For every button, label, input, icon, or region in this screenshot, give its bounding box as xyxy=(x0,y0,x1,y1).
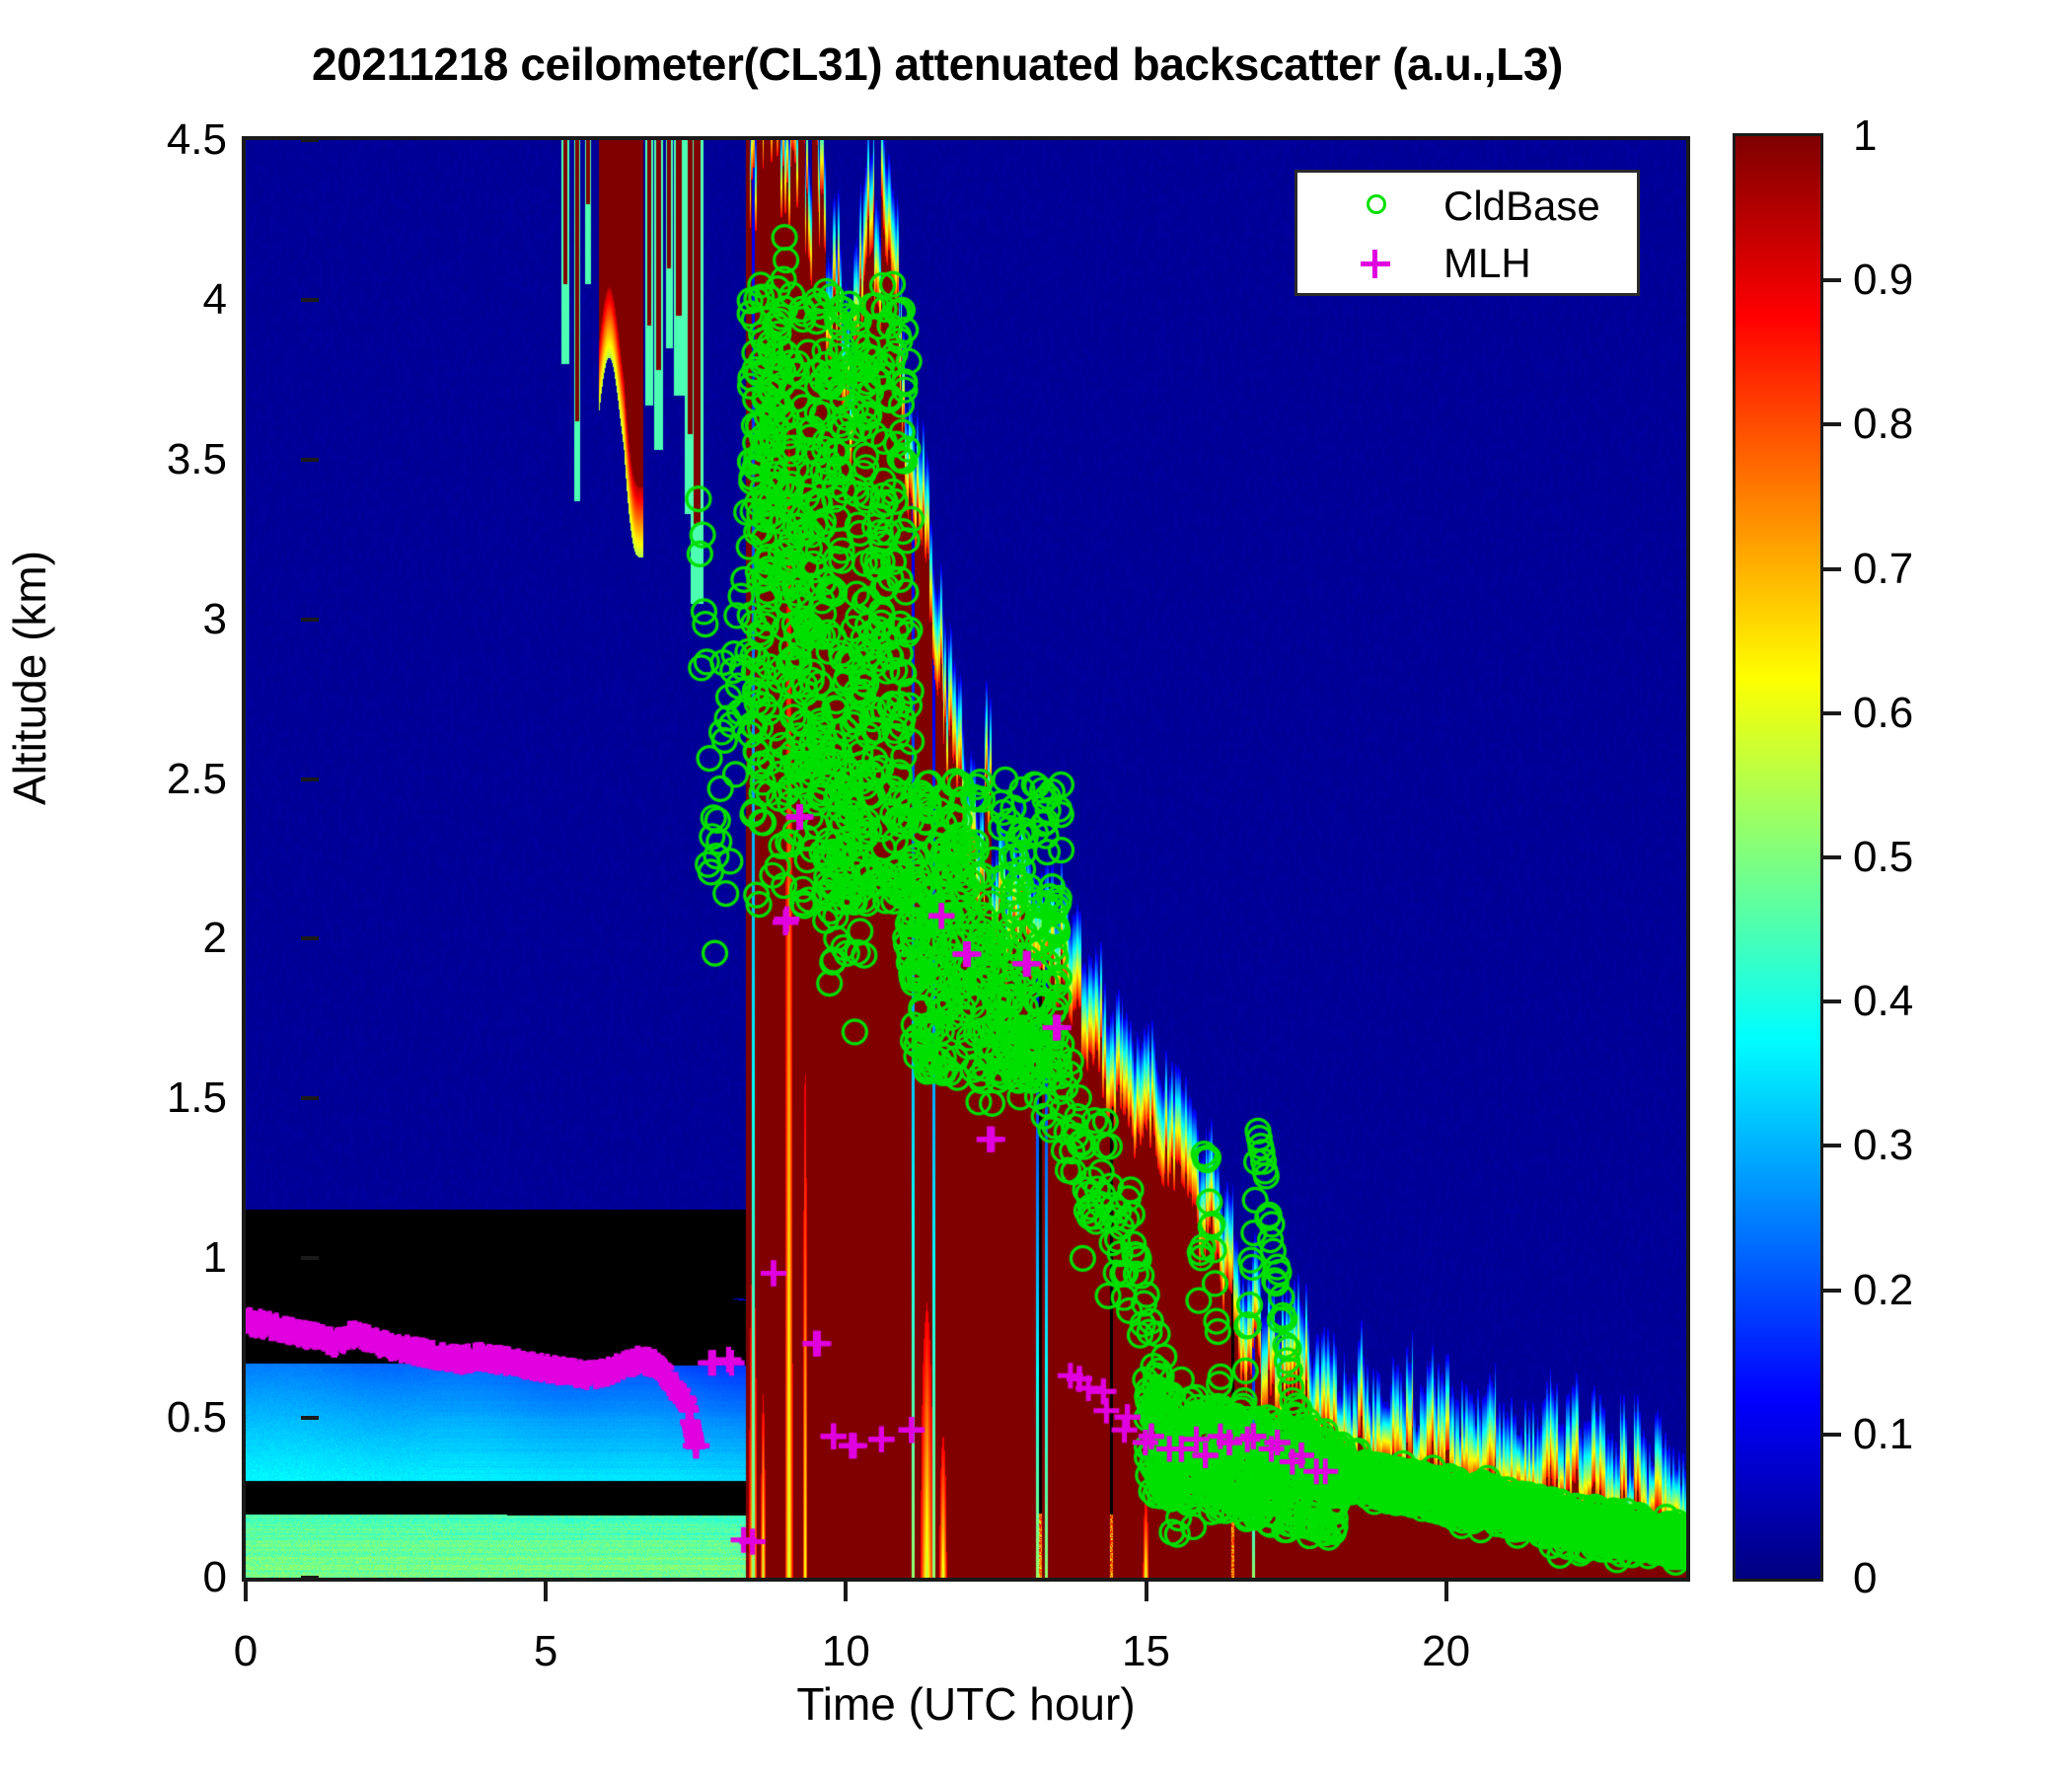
y-tick-label: 3 xyxy=(79,598,227,641)
colorbar-tick-label: 0.2 xyxy=(1853,1269,1913,1312)
y-tick-label: 4.5 xyxy=(79,118,227,162)
y-tick-mark xyxy=(301,618,319,622)
colorbar-tick-mark xyxy=(1823,999,1841,1003)
y-tick-mark xyxy=(301,1096,319,1100)
y-tick-mark xyxy=(301,298,319,302)
colorbar-tick-label: 0.7 xyxy=(1853,548,1913,591)
y-axis-label: Altitude (km) xyxy=(3,471,56,885)
colorbar-tick-mark xyxy=(1823,855,1841,859)
colorbar-tick-label: 0.4 xyxy=(1853,980,1913,1023)
legend-label-mlh: MLH xyxy=(1443,236,1531,291)
colorbar-tick-mark xyxy=(1823,567,1841,571)
y-tick-label: 2.5 xyxy=(79,758,227,801)
colorbar-tick-mark xyxy=(1823,1433,1841,1437)
x-tick-mark xyxy=(844,1582,848,1601)
legend-item-cldbase: CldBase xyxy=(1297,179,1637,234)
y-tick-label: 0.5 xyxy=(79,1396,227,1440)
y-tick-label: 0 xyxy=(79,1556,227,1599)
legend-item-mlh: MLH xyxy=(1297,236,1637,291)
y-tick-label: 4 xyxy=(79,278,227,322)
x-tick-mark xyxy=(544,1582,548,1601)
colorbar-tick-label: 0.6 xyxy=(1853,692,1913,735)
x-tick-mark xyxy=(1145,1582,1148,1601)
y-tick-label: 2 xyxy=(79,917,227,960)
x-axis-label: Time (UTC hour) xyxy=(242,1677,1690,1731)
plus-marker-icon xyxy=(1359,236,1398,291)
y-tick-mark xyxy=(301,936,319,940)
y-tick-label: 1.5 xyxy=(79,1076,227,1120)
x-tick-label: 20 xyxy=(1368,1627,1525,1676)
colorbar-tick-mark xyxy=(1823,1144,1841,1147)
backscatter-heatmap-canvas xyxy=(246,140,1686,1578)
x-tick-label: 5 xyxy=(467,1627,625,1676)
colorbar-tick-label: 0.8 xyxy=(1853,403,1913,446)
colorbar-tick-label: 0 xyxy=(1853,1557,1877,1600)
y-tick-mark xyxy=(301,138,319,142)
colorbar-ticks: 00.10.20.30.40.50.60.70.80.91 xyxy=(1733,133,2029,1582)
y-axis-ticks: 00.511.522.533.544.5 xyxy=(59,136,227,1582)
heatmap-plot-area xyxy=(242,136,1690,1582)
colorbar-tick-label: 0.9 xyxy=(1853,259,1913,302)
colorbar-tick-label: 0.5 xyxy=(1853,836,1913,879)
colorbar-tick-mark xyxy=(1823,278,1841,282)
x-tick-mark xyxy=(244,1582,248,1601)
colorbar-tick-label: 0.1 xyxy=(1853,1413,1913,1456)
circle-marker-icon xyxy=(1359,179,1398,234)
y-tick-mark xyxy=(301,1576,319,1580)
x-tick-label: 10 xyxy=(767,1627,925,1676)
x-tick-label: 0 xyxy=(167,1627,325,1676)
colorbar-tick-label: 1 xyxy=(1853,114,1877,158)
legend-label-cldbase: CldBase xyxy=(1443,179,1600,234)
y-tick-label: 3.5 xyxy=(79,438,227,481)
colorbar-tick-mark xyxy=(1823,1289,1841,1293)
x-tick-mark xyxy=(1444,1582,1448,1601)
y-tick-mark xyxy=(301,1256,319,1260)
y-tick-label: 1 xyxy=(79,1236,227,1280)
colorbar-tick-mark xyxy=(1823,711,1841,715)
colorbar-tick-label: 0.3 xyxy=(1853,1124,1913,1167)
legend: CldBase MLH xyxy=(1295,170,1640,296)
x-tick-label: 15 xyxy=(1068,1627,1225,1676)
chart-title: 20211218 ceilometer(CL31) attenuated bac… xyxy=(0,37,1875,91)
y-tick-mark xyxy=(301,1416,319,1420)
y-tick-mark xyxy=(301,458,319,462)
colorbar-tick-mark xyxy=(1823,422,1841,426)
y-tick-mark xyxy=(301,777,319,781)
